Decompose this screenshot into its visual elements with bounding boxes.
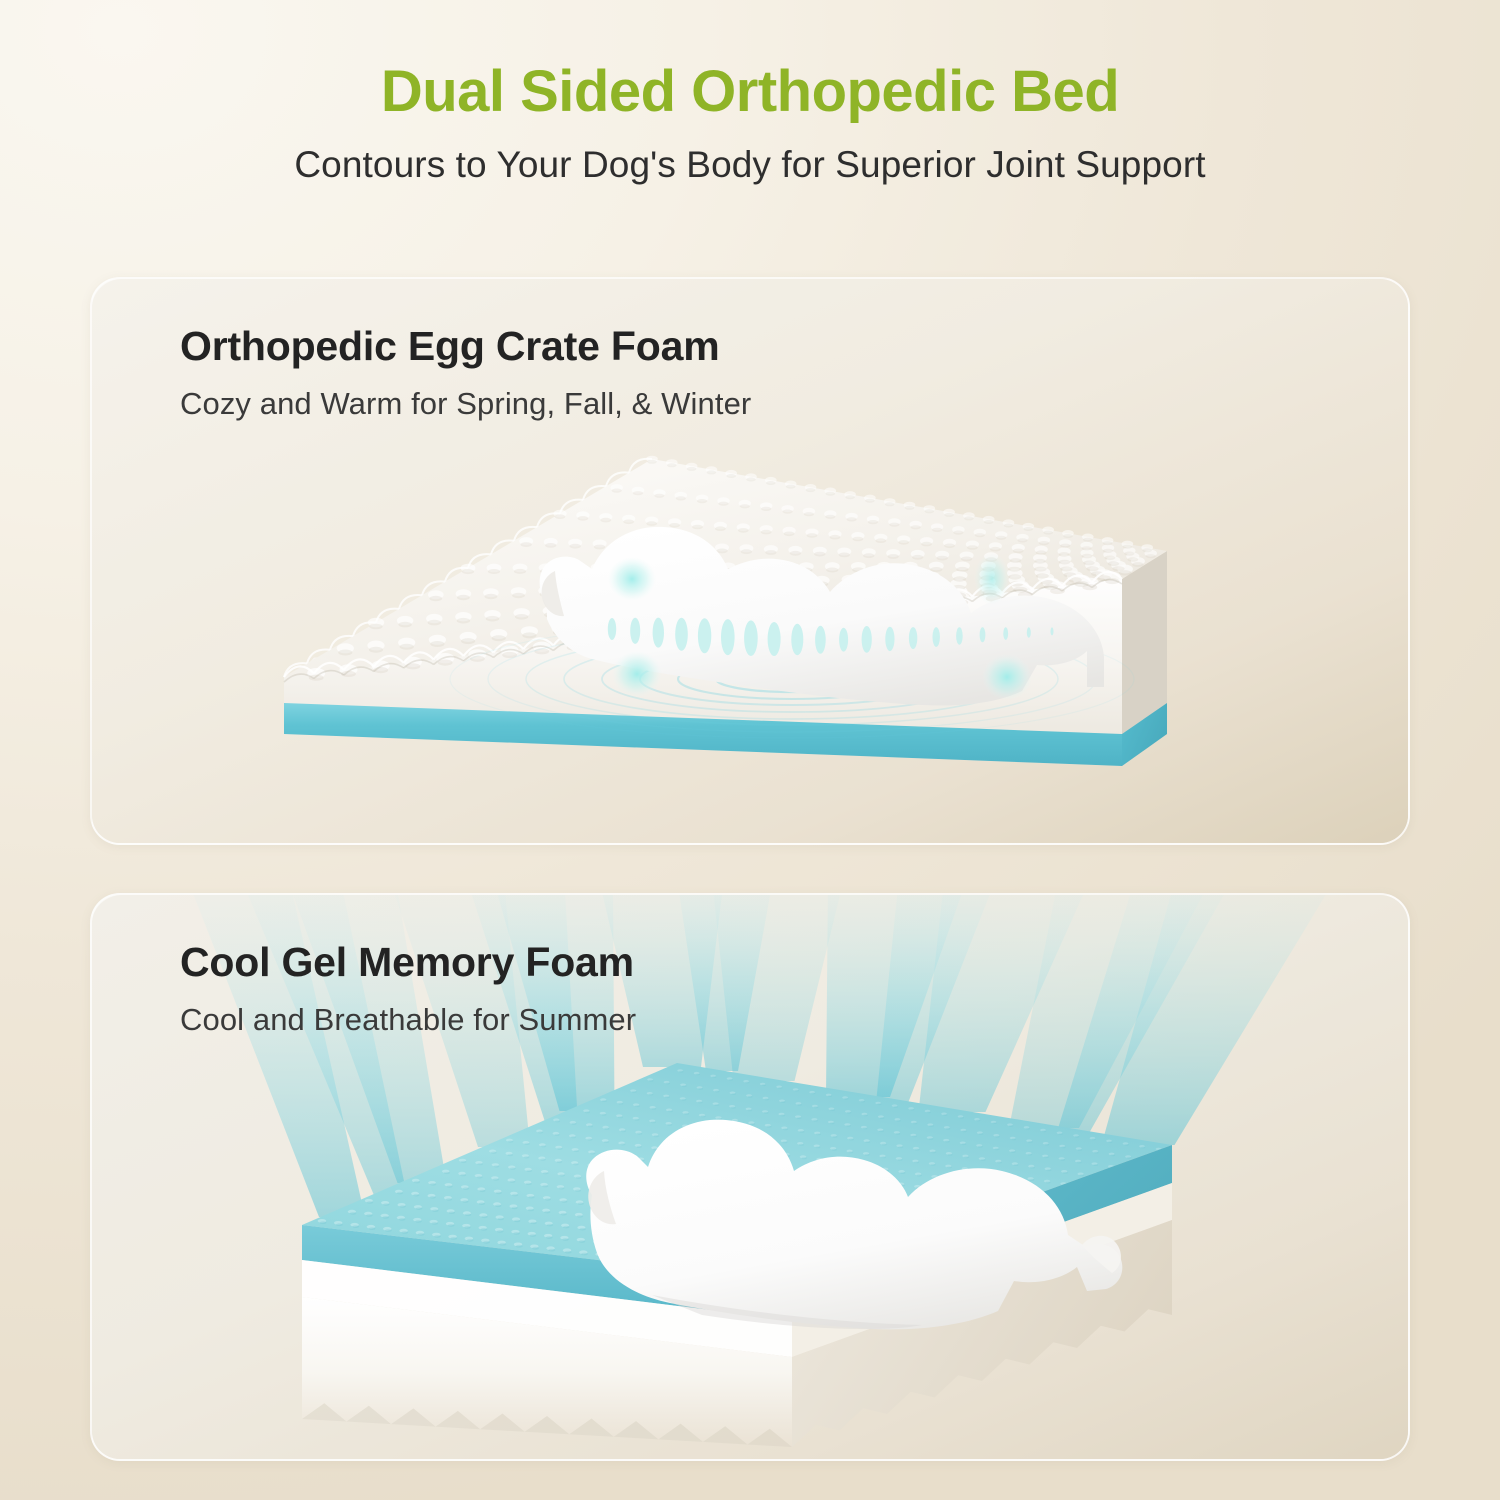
card-2-title: Cool Gel Memory Foam bbox=[180, 939, 636, 986]
feature-cards: Orthopedic Egg Crate Foam Cozy and Warm … bbox=[0, 0, 1500, 1500]
card-1-header: Orthopedic Egg Crate Foam Cozy and Warm … bbox=[180, 323, 751, 422]
card-1-title: Orthopedic Egg Crate Foam bbox=[180, 323, 751, 370]
card-2-header: Cool Gel Memory Foam Cool and Breathable… bbox=[180, 939, 636, 1038]
page-title: Dual Sided Orthopedic Bed bbox=[0, 62, 1500, 123]
feature-card-cool-gel-memory-foam[interactable]: Cool Gel Memory Foam Cool and Breathable… bbox=[90, 893, 1410, 1461]
page-subtitle: Contours to Your Dog's Body for Superior… bbox=[0, 145, 1500, 186]
feature-card-orthopedic-egg-crate-foam[interactable]: Orthopedic Egg Crate Foam Cozy and Warm … bbox=[90, 277, 1410, 845]
card-1-subtitle: Cozy and Warm for Spring, Fall, & Winter bbox=[180, 386, 751, 422]
page-header: Dual Sided Orthopedic Bed Contours to Yo… bbox=[0, 0, 1500, 186]
card-2-subtitle: Cool and Breathable for Summer bbox=[180, 1002, 636, 1038]
